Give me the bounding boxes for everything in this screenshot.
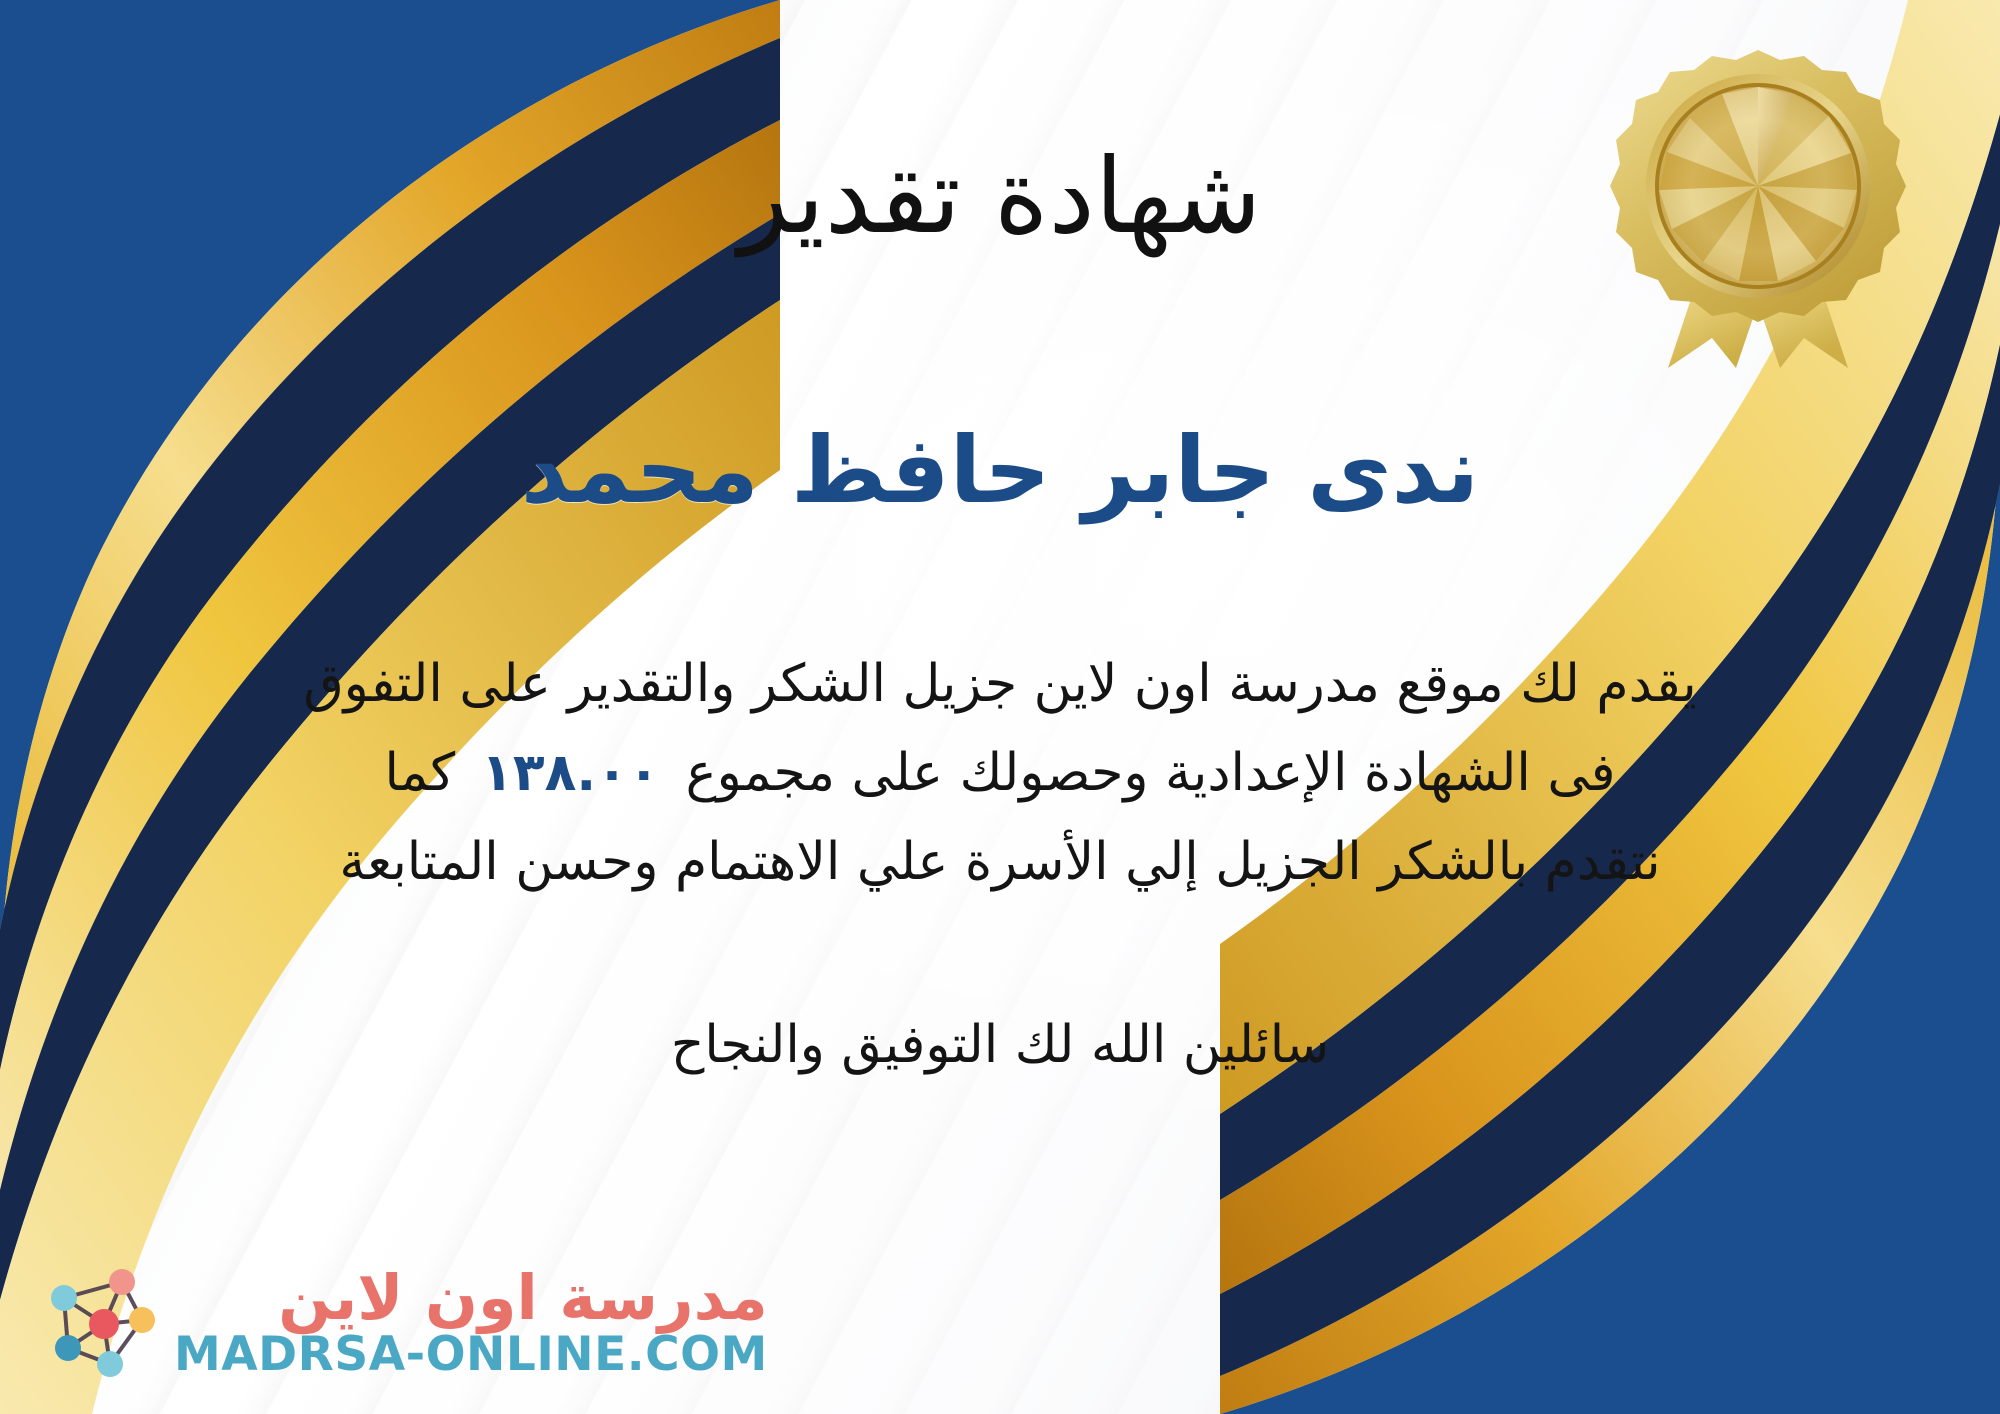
body-line-2-suffix: كما	[384, 743, 455, 803]
brand-arabic-name: مدرسة اون لاين	[278, 1265, 768, 1330]
closing-wish: سائلين الله لك التوفيق والنجاح	[671, 1004, 1329, 1087]
recipient-name: ندى جابر حافظ محمد	[521, 420, 1479, 521]
body-line-3: نتقدم بالشكر الجزيل إلي الأسرة علي الاهت…	[60, 818, 1940, 907]
body-line-1: يقدم لك موقع مدرسة اون لاين جزيل الشكر و…	[60, 640, 1940, 729]
certificate-title: شهادة تقدير	[738, 140, 1261, 252]
brand-website-url: MADRSA-ONLINE.COM	[174, 1330, 768, 1381]
body-line-2-prefix: فى الشهادة الإعدادية وحصولك على مجموع	[686, 743, 1616, 803]
brand-logo[interactable]: مدرسة اون لاين MADRSA-ONLINE.COM	[34, 1260, 768, 1386]
grade-total-value: ١٣٨.٠٠	[455, 743, 685, 803]
certificate-body: يقدم لك موقع مدرسة اون لاين جزيل الشكر و…	[60, 640, 1940, 908]
body-line-2: فى الشهادة الإعدادية وحصولك على مجموع١٣٨…	[60, 729, 1940, 818]
brand-text-block: مدرسة اون لاين MADRSA-ONLINE.COM	[174, 1265, 768, 1381]
certificate-canvas: شهادة تقدير ندى جابر حافظ محمد يقدم لك م…	[0, 0, 2000, 1414]
certificate-content: شهادة تقدير ندى جابر حافظ محمد يقدم لك م…	[0, 0, 2000, 1414]
network-nodes-icon	[34, 1260, 160, 1386]
